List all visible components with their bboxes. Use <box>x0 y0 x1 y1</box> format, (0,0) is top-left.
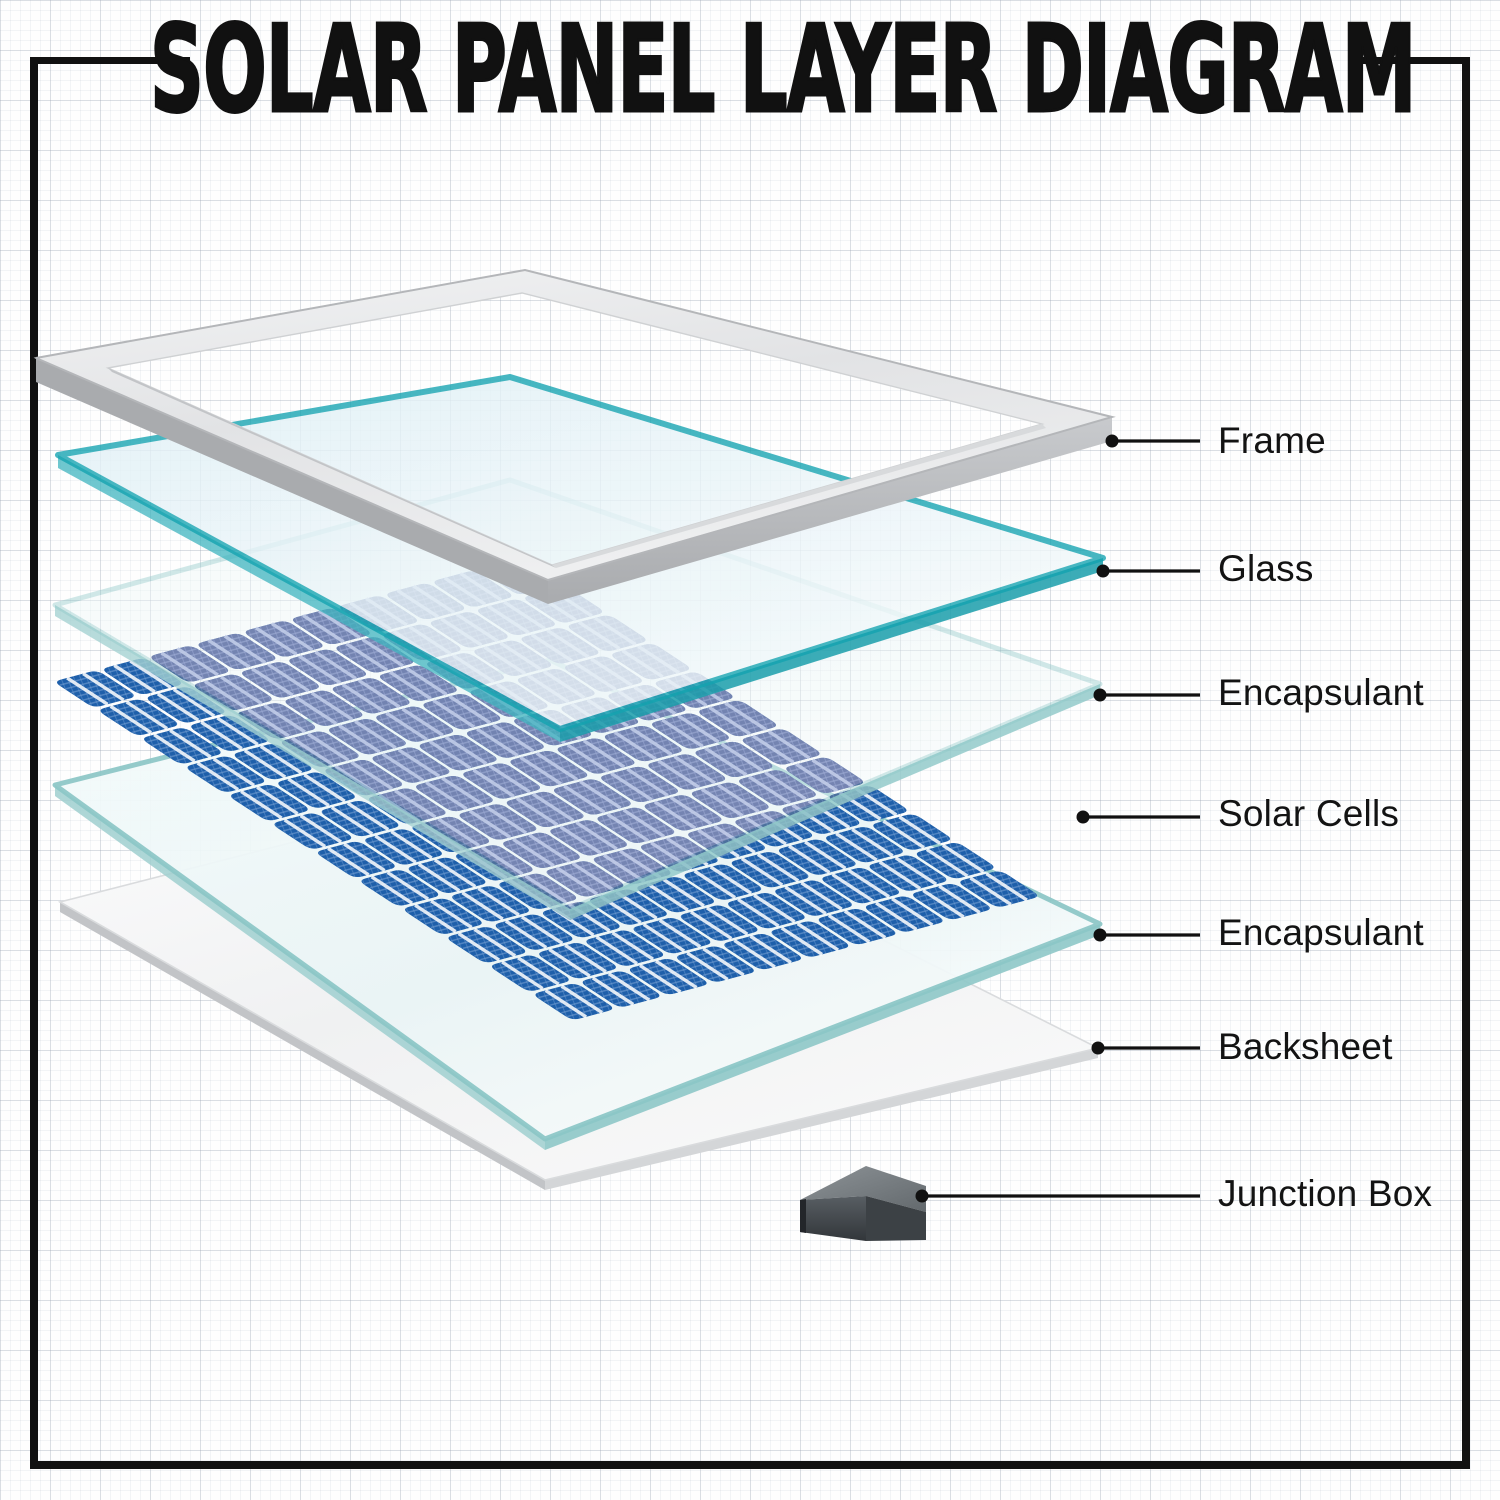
label-backsheet: Backsheet <box>1218 1026 1393 1068</box>
label-encapsulant-bottom: Encapsulant <box>1218 912 1424 954</box>
label-junction-box: Junction Box <box>1218 1173 1432 1215</box>
junction-box-front-left <box>800 1196 866 1241</box>
leader-dot-junction-box <box>916 1190 929 1203</box>
label-glass: Glass <box>1218 548 1314 590</box>
junction-box-side <box>800 1199 806 1233</box>
leader-dot-encapsulant-top <box>1094 689 1107 702</box>
label-solar-cells: Solar Cells <box>1218 793 1399 835</box>
label-encapsulant-top: Encapsulant <box>1218 672 1424 714</box>
label-frame: Frame <box>1218 420 1326 462</box>
leader-dot-backsheet <box>1092 1042 1105 1055</box>
leader-dot-encapsulant-bottom <box>1094 929 1107 942</box>
leader-dot-solar-cells <box>1077 811 1090 824</box>
solar-panel-exploded-diagram <box>0 0 1500 1500</box>
leader-dot-frame <box>1106 435 1119 448</box>
layer-junction-box <box>800 1166 926 1241</box>
leader-dot-glass <box>1097 565 1110 578</box>
